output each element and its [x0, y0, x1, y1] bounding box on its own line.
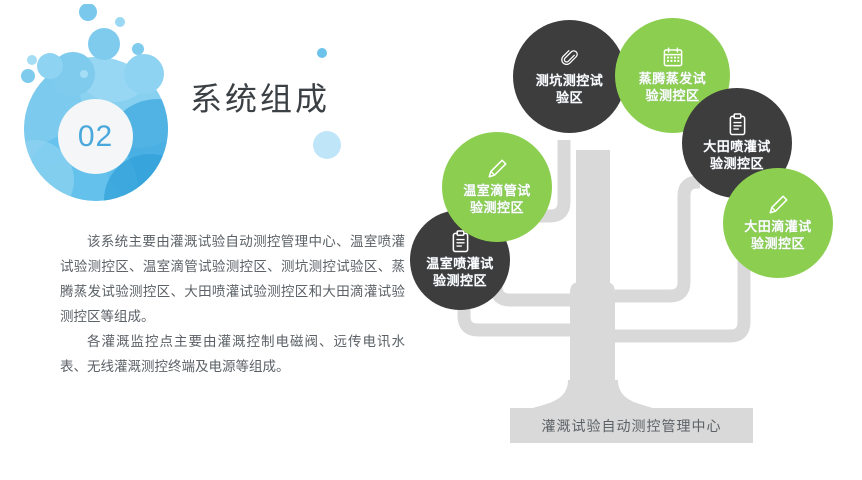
body-copy: 该系统主要由灌溉试验自动测控管理中心、温室喷灌试验测控区、温室滴管试验测控区、测… [60, 230, 405, 380]
tree-node-label: 大田喷灌试 验测控区 [703, 139, 771, 173]
tree-node-label: 温室滴管试 验测控区 [463, 183, 531, 217]
tree-node-label: 测坑测控试 验区 [536, 73, 604, 107]
tree-node-greenhouse-drip[interactable]: 温室滴管试 验测控区 [442, 132, 552, 242]
slide-canvas: 02 系统组成 该系统主要由灌溉试验自动测控管理中心、温室喷灌试验测控区、温室滴… [0, 0, 862, 480]
tree-node-lysimeter[interactable]: 测坑测控试 验区 [513, 20, 626, 133]
pencil-icon [486, 157, 509, 180]
tree-node-label: 温室喷灌试 验测控区 [426, 256, 494, 290]
section-number-badge: 02 [58, 99, 133, 174]
tree-root-label: 灌溉试验自动测控管理中心 [542, 416, 722, 436]
paperclip-icon [558, 47, 581, 70]
tree-node-label: 蒸腾蒸发试 验测控区 [639, 71, 707, 105]
section-number-text: 02 [78, 120, 113, 154]
pencil-icon [767, 193, 790, 216]
tree-diagram: 温室喷灌试 验测控区 温室滴管试 验测控区 [400, 0, 862, 480]
tree-node-label: 大田滴灌试 验测控区 [744, 219, 812, 253]
clipboard-icon [728, 113, 747, 136]
tree-root-plate[interactable]: 灌溉试验自动测控管理中心 [510, 408, 753, 443]
left-content-panel: 02 系统组成 该系统主要由灌溉试验自动测控管理中心、温室喷灌试验测控区、温室滴… [0, 0, 430, 480]
tree-node-field-drip[interactable]: 大田滴灌试 验测控区 [723, 168, 833, 278]
page-title: 系统组成 [190, 74, 330, 120]
calendar-icon [662, 46, 684, 68]
body-paragraph-1: 该系统主要由灌溉试验自动测控管理中心、温室喷灌试验测控区、温室滴管试验测控区、测… [60, 230, 405, 330]
body-paragraph-2: 各灌溉监控点主要由灌溉控制电磁阀、远传电讯水表、无线灌溉测控终端及电源等组成。 [60, 330, 405, 380]
